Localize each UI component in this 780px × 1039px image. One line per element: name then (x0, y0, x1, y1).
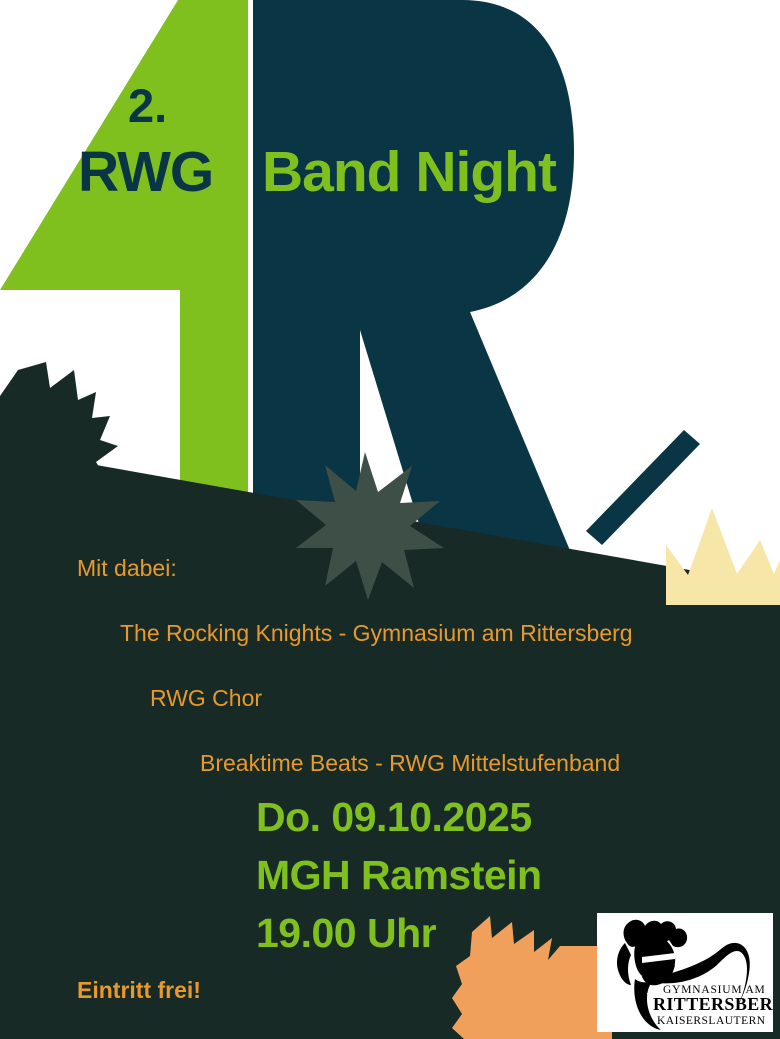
poster-canvas: 2. RWG Band Night Mit dabei: The Rocking… (0, 0, 780, 1039)
logo-line-3: KAISERSLAUTERN (657, 1015, 766, 1027)
letter-r-shape (253, 0, 574, 560)
lineup-label: Mit dabei: (77, 557, 177, 580)
event-time: 19.00 Uhr (256, 913, 436, 954)
school-logo-artwork: GYMNASIUM AM RITTERSBERG KAISERSLAUTERN (597, 913, 773, 1032)
lineup-act-1: The Rocking Knights - Gymnasium am Ritte… (120, 622, 633, 645)
lineup-act-3: Breaktime Beats - RWG Mittelstufenband (200, 752, 620, 775)
logo-line-2: RITTERSBERG (653, 994, 773, 1014)
school-logo: GYMNASIUM AM RITTERSBERG KAISERSLAUTERN (597, 913, 773, 1032)
lineup-act-2: RWG Chor (150, 687, 262, 710)
admission-note: Eintritt frei! (77, 979, 201, 1002)
headline-acronym: RWG (78, 144, 213, 201)
headline-edition-number: 2. (128, 82, 167, 129)
event-venue: MGH Ramstein (256, 855, 542, 896)
event-date: Do. 09.10.2025 (256, 797, 532, 838)
headline-event-title: Band Night (262, 144, 556, 201)
